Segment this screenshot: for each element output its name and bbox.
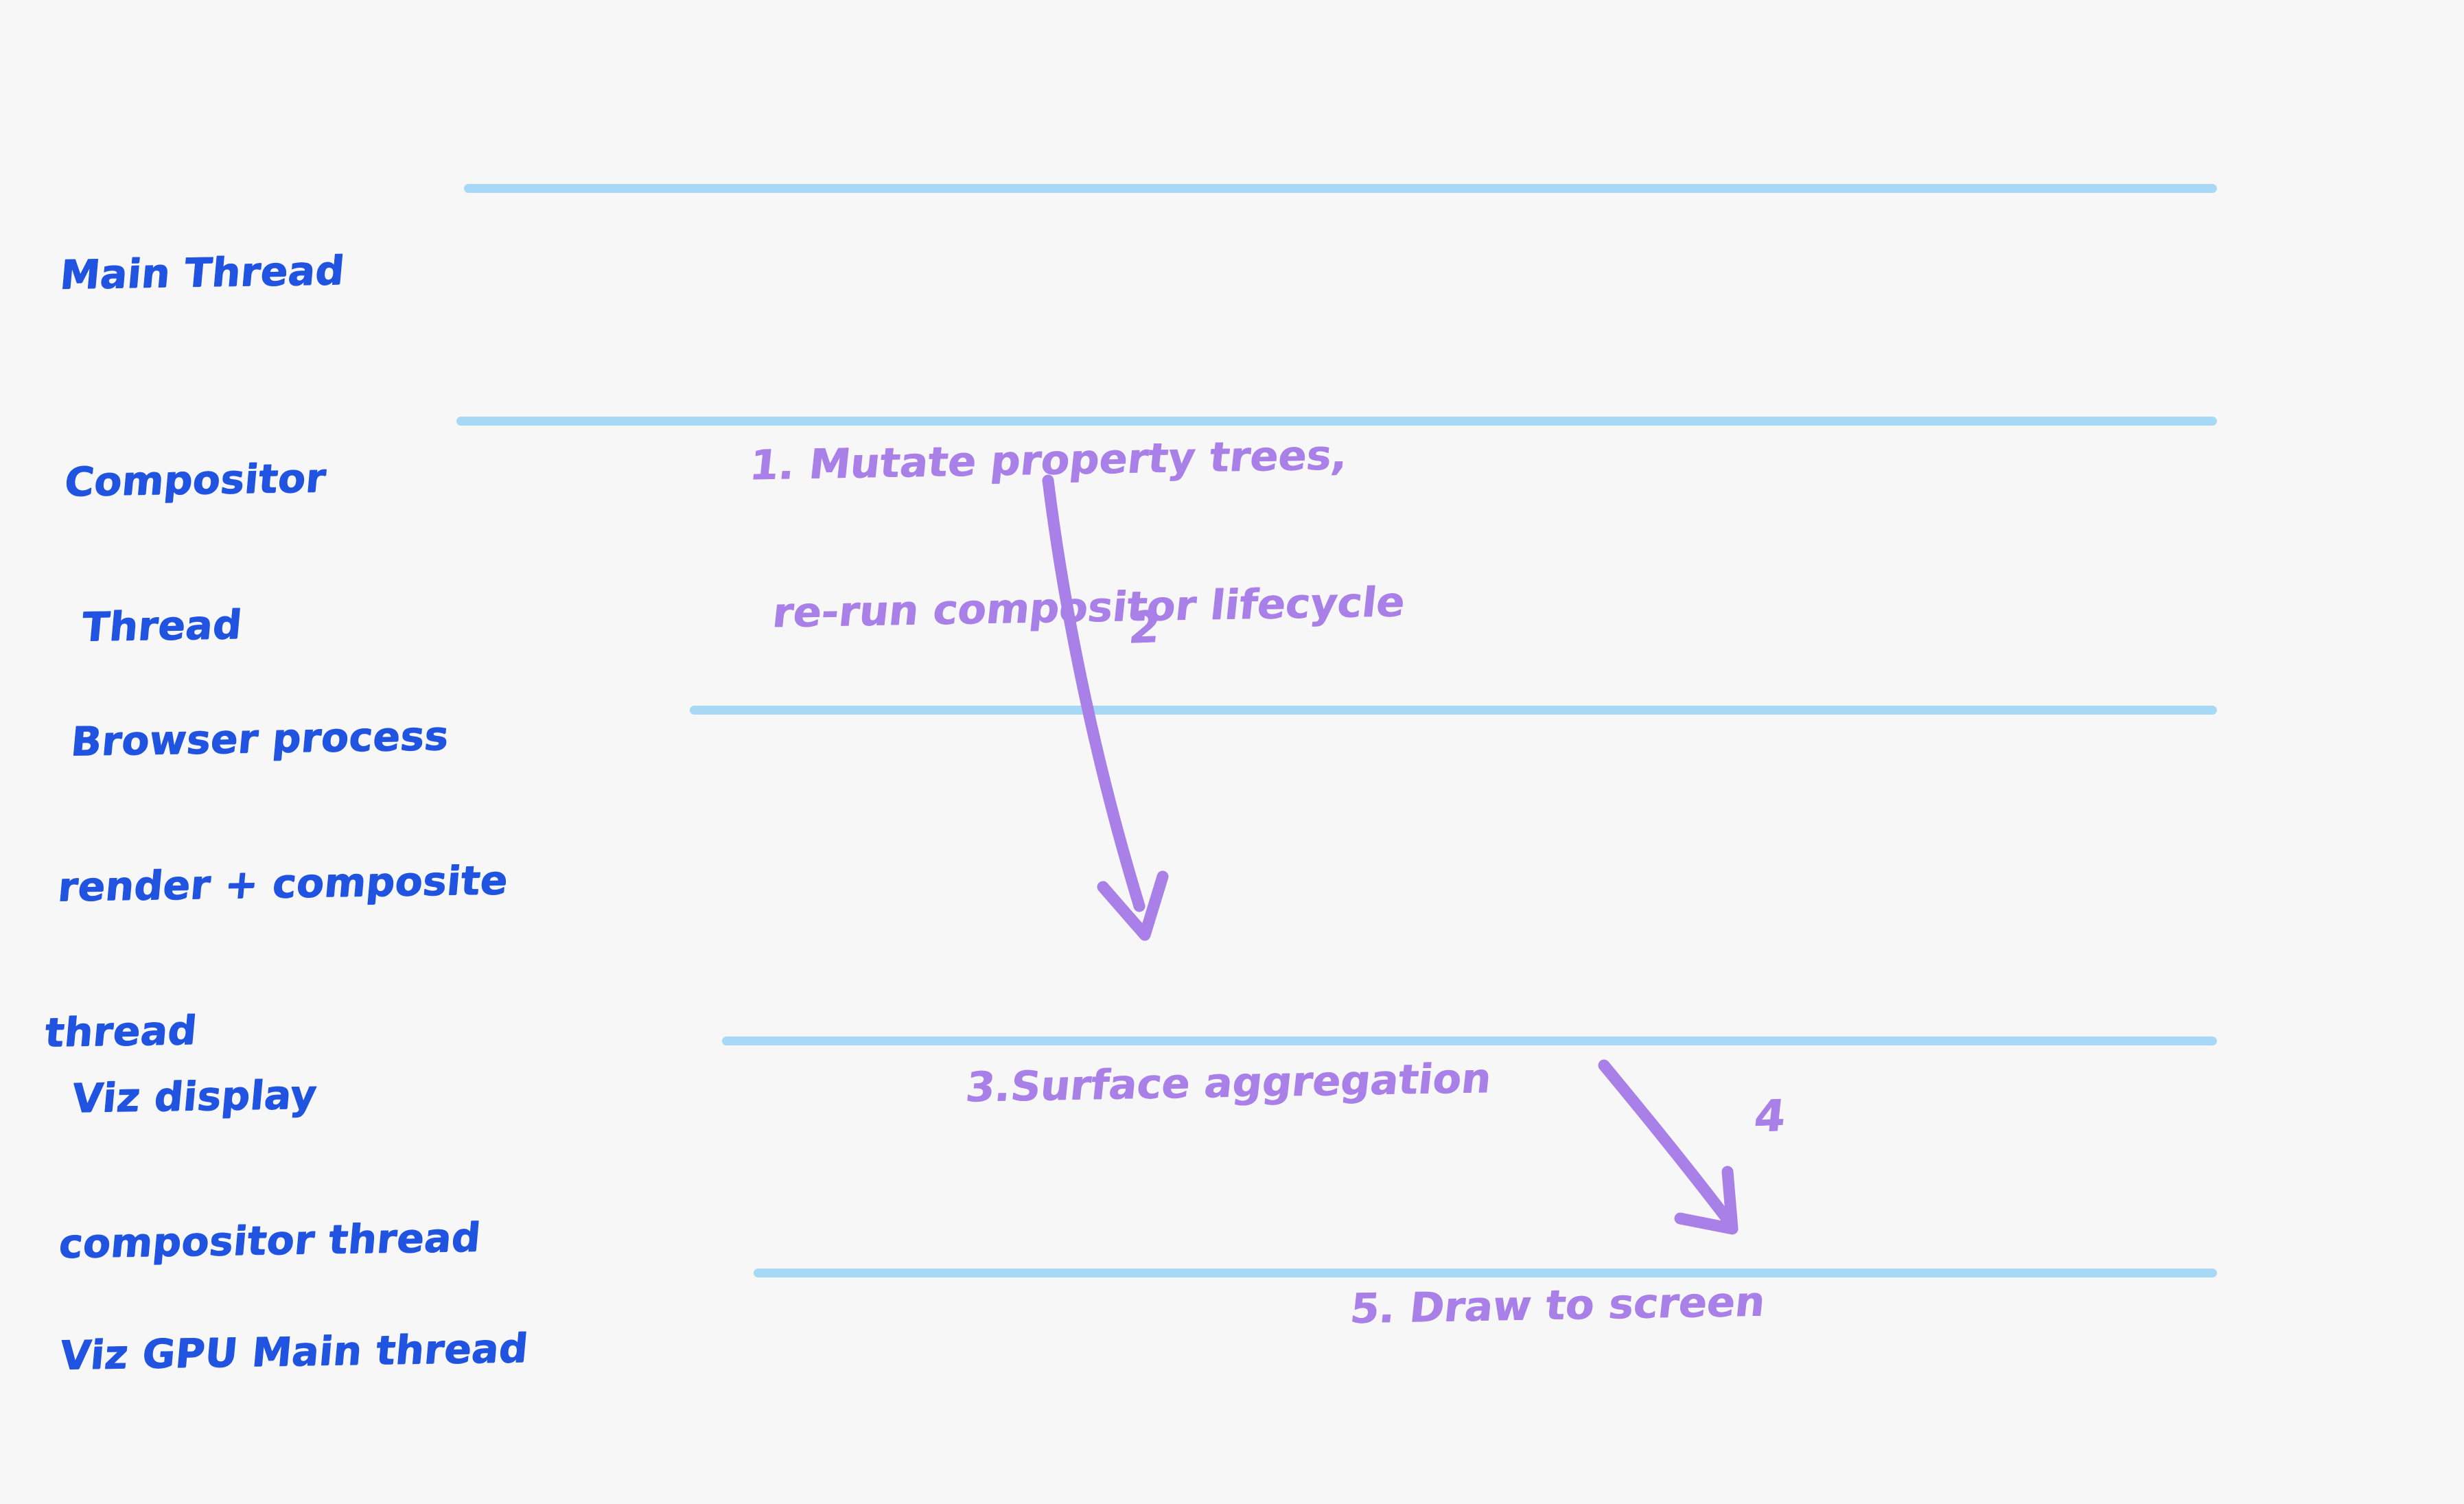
lane-label-viz-gpu-main: Viz GPU Main thread (49, 1227, 539, 1477)
lane-label-line: Main Thread (58, 246, 347, 299)
annotation-line: 5. Draw to screen (1348, 1277, 1767, 1334)
lane-label-line: render + composite (56, 856, 509, 912)
annotation-step-5: 5. Draw to screen (1337, 1179, 1778, 1433)
diagram-canvas: Main Thread Compositor Thread Browser pr… (0, 0, 2464, 1504)
annotation-step-3: 3.Surface aggregation (953, 955, 1504, 1211)
annotation-step-4-number: 4 (1752, 1091, 1788, 1143)
annotation-step-1: 1. Mutate property trees, re-run composi… (721, 331, 1433, 738)
annotation-line: 1. Mutate property trees, (747, 430, 1423, 491)
lane-label-line: Viz GPU Main thread (58, 1323, 530, 1379)
lane-line-main-thread (464, 184, 2217, 193)
lane-label-line: Browser process (69, 710, 522, 765)
annotation-step-2-number: 2 (1126, 602, 1163, 654)
lane-label-line: Compositor (62, 454, 328, 507)
annotation-line: 3.Surface aggregation (963, 1054, 1493, 1112)
lane-label-line: Viz display (70, 1067, 496, 1122)
annotation-line: re-run compositor lifecycle (732, 577, 1407, 638)
